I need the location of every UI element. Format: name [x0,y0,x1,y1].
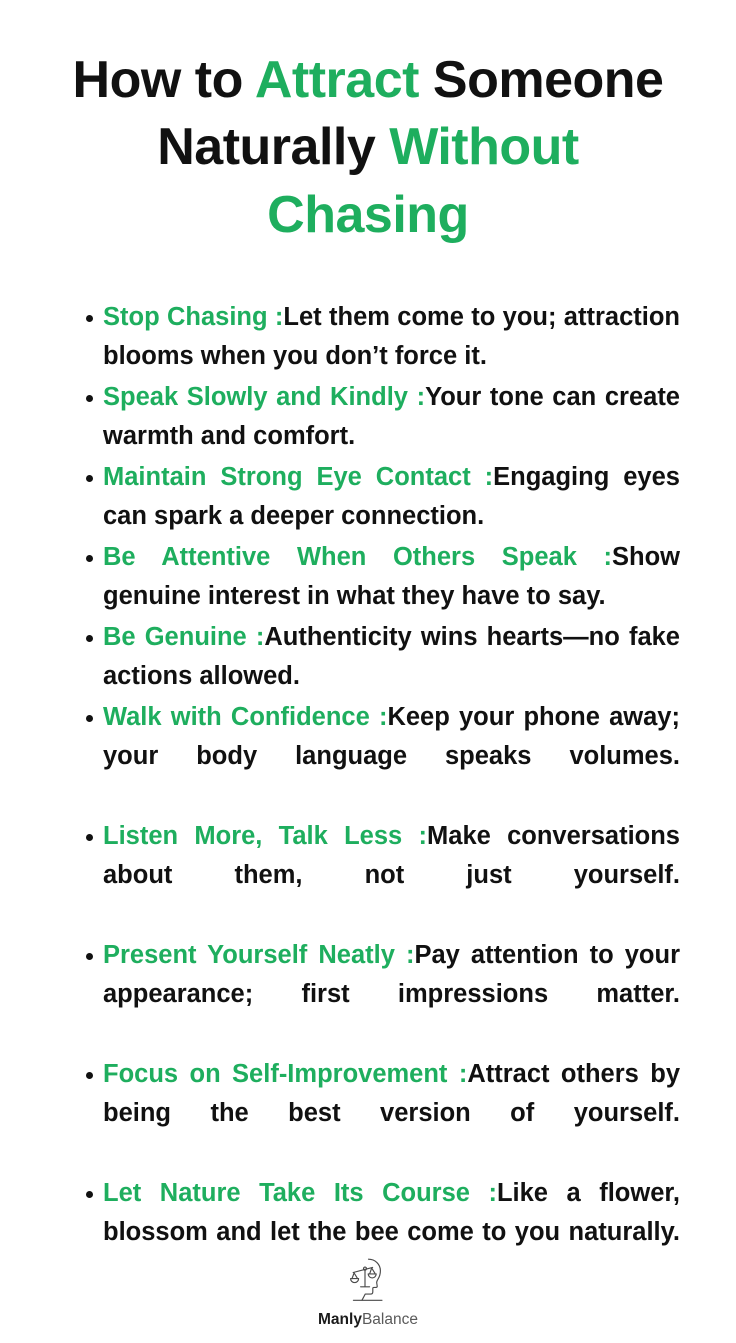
tip-label: Speak Slowly and Kindly : [103,383,425,411]
list-item: Present Yourself Neatly :Pay attention t… [86,936,680,1053]
brand-wordmark: ManlyBalance [318,1311,418,1329]
title-plain-word: Naturally [157,118,389,176]
list-item: Be Genuine :Authenticity wins hearts—no … [86,618,680,696]
list-item: Speak Slowly and Kindly :Your tone can c… [86,378,680,456]
tips-list: Stop Chasing :Let them come to you; attr… [0,284,736,1291]
tip-label: Be Attentive When Others Speak : [103,543,612,571]
tip-label: Focus on Self-Improvement : [103,1060,467,1088]
list-item: Focus on Self-Improvement :Attract other… [86,1055,680,1172]
page-title: How to Attract SomeoneNaturally WithoutC… [0,35,736,250]
brand-name-secondary: Balance [362,1311,418,1328]
infographic-page: How to Attract SomeoneNaturally WithoutC… [0,35,736,1343]
title-plain-word: Someone [419,51,664,109]
tip-label: Stop Chasing : [103,303,283,331]
title-accent-word: Attract [255,51,419,109]
head-with-balance-scale-icon [341,1256,395,1308]
brand-name-primary: Manly [318,1311,362,1328]
tip-label: Present Yourself Neatly : [103,941,414,969]
tip-label: Listen More, Talk Less : [103,822,427,850]
page-title-line: Naturally Without [40,114,696,182]
brand-footer: ManlyBalance [0,1256,736,1329]
list-item: Listen More, Talk Less :Make conversatio… [86,817,680,934]
tip-label: Be Genuine : [103,623,264,651]
list-item: Stop Chasing :Let them come to you; attr… [86,298,680,376]
title-accent-word: Without [389,118,579,176]
list-item: Maintain Strong Eye Contact :Engaging ey… [86,458,680,536]
page-title-line: Chasing [40,182,696,250]
list-item: Be Attentive When Others Speak :Show gen… [86,538,680,616]
list-item: Walk with Confidence :Keep your phone aw… [86,698,680,815]
page-title-line: How to Attract Someone [40,47,696,115]
tip-label: Let Nature Take Its Course : [103,1179,497,1207]
title-accent-word: Chasing [267,186,469,244]
title-plain-word: How to [73,51,255,109]
tip-label: Walk with Confidence : [103,703,387,731]
tip-label: Maintain Strong Eye Contact : [103,463,493,491]
